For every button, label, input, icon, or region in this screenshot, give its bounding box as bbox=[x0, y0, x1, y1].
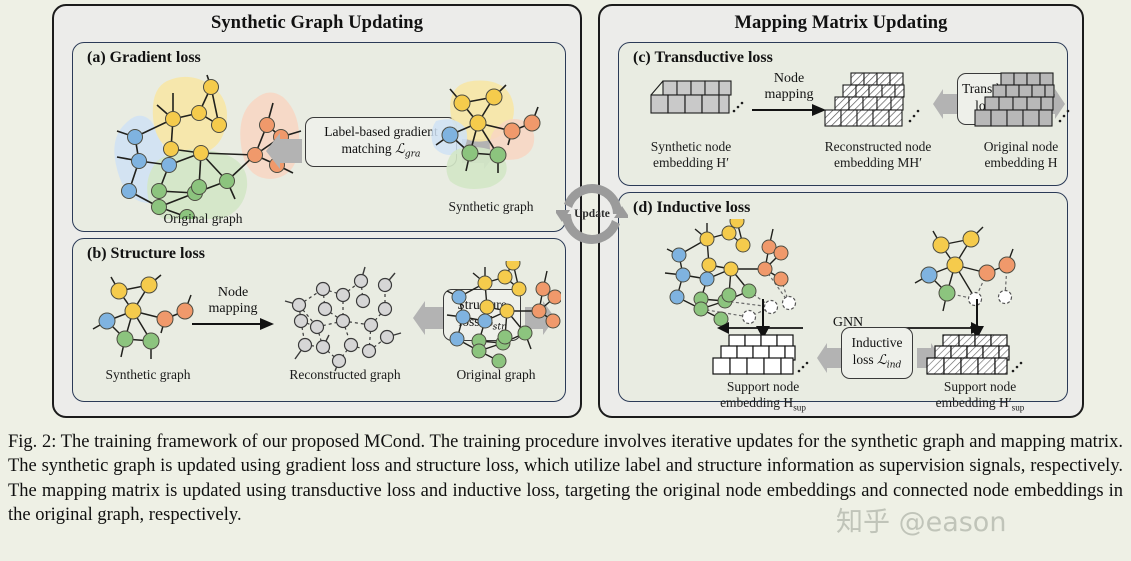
panel-d-right-label-1: Support node bbox=[944, 379, 1016, 394]
inductive-loss-line1: Inductive bbox=[852, 335, 903, 350]
panel-b-title: (b) Structure loss bbox=[87, 245, 205, 263]
outer-panel-synthetic-graph-updating: Synthetic Graph Updating (a) Gradient lo… bbox=[52, 4, 582, 418]
panel-c-left-label-2: embedding H′ bbox=[653, 155, 729, 170]
panel-a-original-graph-label: Original graph bbox=[133, 211, 273, 227]
node-mapping-line2-b: mapping bbox=[209, 301, 258, 316]
panel-c-right-label-1: Original node bbox=[984, 139, 1059, 154]
panel-d-left-label-2: embedding H bbox=[720, 395, 793, 410]
arrow-left-transductive bbox=[931, 89, 959, 119]
ellipsis-dots bbox=[1012, 362, 1023, 373]
panel-b-synthetic-graph-label: Synthetic graph bbox=[83, 367, 213, 383]
embedding-blocks bbox=[651, 81, 731, 113]
embedding-blocks bbox=[975, 73, 1054, 126]
update-badge-label: Update bbox=[556, 178, 628, 250]
figure-caption: Fig. 2: The training framework of our pr… bbox=[8, 430, 1123, 528]
panel-d-left-label-sub: sup bbox=[793, 403, 806, 413]
support-node-embedding-left-stack bbox=[711, 333, 815, 379]
node-mapping-line2-c: mapping bbox=[765, 87, 814, 102]
graph-nodes bbox=[670, 219, 796, 326]
panel-c-reconstructed-embedding-label: Reconstructed node embedding MH′ bbox=[795, 139, 961, 171]
panel-d-inductive-loss: (d) Inductive loss bbox=[618, 192, 1068, 402]
node-mapping-label-b: Node mapping bbox=[191, 285, 275, 317]
panel-c-left-label-1: Synthetic node bbox=[651, 139, 732, 154]
panel-d-left-embedding-label: Support node embedding Hsup bbox=[693, 379, 833, 413]
ellipsis-dots bbox=[733, 102, 744, 113]
graph-nodes bbox=[99, 277, 193, 349]
panel-c-mid-label-2: embedding MH′ bbox=[834, 155, 922, 170]
synthetic-graph-diagram-d bbox=[909, 223, 1019, 319]
inductive-loss-sub: ind bbox=[887, 359, 902, 370]
panel-d-title: (d) Inductive loss bbox=[633, 199, 750, 217]
outer-panel-right-title: Mapping Matrix Updating bbox=[600, 13, 1082, 34]
panel-a-gradient-loss: (a) Gradient loss bbox=[72, 42, 566, 232]
synthetic-graph-diagram-b bbox=[87, 269, 207, 373]
update-badge: Update bbox=[556, 178, 628, 250]
arrow-left-inductive bbox=[815, 343, 843, 373]
panel-c-mid-label-1: Reconstructed node bbox=[825, 139, 932, 154]
panel-c-title: (c) Transductive loss bbox=[633, 49, 773, 67]
arrow-left-structure bbox=[411, 301, 445, 335]
panel-c-synthetic-embedding-label: Synthetic node embedding H′ bbox=[625, 139, 757, 171]
support-node-embedding-right-stack bbox=[925, 333, 1029, 379]
gradient-loss-symbol: ℒ bbox=[395, 141, 405, 157]
ellipsis-dots bbox=[1059, 110, 1070, 123]
panel-b-original-graph-label: Original graph bbox=[431, 367, 561, 383]
panel-d-right-label-2: embedding H′ bbox=[936, 395, 1012, 410]
gradient-loss-sub: gra bbox=[405, 148, 421, 159]
reconstructed-node-embedding-stack bbox=[815, 71, 933, 133]
graph-nodes bbox=[450, 261, 561, 368]
embedding-blocks bbox=[713, 335, 795, 374]
synthetic-node-embedding-stack bbox=[641, 77, 747, 133]
panel-d-right-label-sub: sup bbox=[1012, 403, 1025, 413]
panel-d-right-embedding-label: Support node embedding H′sup bbox=[907, 379, 1053, 413]
inductive-loss-box: Inductive loss ℒind bbox=[841, 327, 913, 379]
original-node-embedding-stack bbox=[965, 71, 1077, 133]
node-mapping-arrow-b bbox=[190, 317, 276, 331]
ellipsis-dots bbox=[909, 110, 920, 123]
original-graph-diagram-d bbox=[659, 219, 849, 329]
panel-a-synthetic-graph-label: Synthetic graph bbox=[421, 199, 561, 215]
reconstructed-graph-diagram-b bbox=[277, 263, 409, 373]
panel-c-transductive-loss: (c) Transductive loss bbox=[618, 42, 1068, 186]
original-graph-diagram-b bbox=[441, 261, 561, 373]
panel-b-reconstructed-graph-label: Reconstructed graph bbox=[263, 367, 427, 383]
ellipsis-dots bbox=[798, 362, 809, 373]
figure-root: Synthetic Graph Updating (a) Gradient lo… bbox=[0, 0, 1131, 561]
embedding-blocks bbox=[825, 73, 904, 126]
gradient-loss-line1: Label-based gradient bbox=[324, 124, 438, 139]
panel-b-structure-loss: (b) Structure loss bbox=[72, 238, 566, 402]
panel-d-left-label-1: Support node bbox=[727, 379, 799, 394]
node-mapping-line1-c: Node bbox=[774, 71, 804, 86]
inductive-loss-line2: loss bbox=[853, 352, 877, 367]
outer-panel-mapping-matrix-updating: Mapping Matrix Updating (c) Transductive… bbox=[598, 4, 1084, 418]
embedding-blocks bbox=[927, 335, 1009, 374]
panel-c-original-embedding-label: Original node embedding H bbox=[957, 139, 1085, 171]
gradient-loss-line2: matching bbox=[341, 141, 395, 156]
node-mapping-line1-b: Node bbox=[218, 285, 248, 300]
synthetic-graph-diagram-a bbox=[428, 79, 556, 197]
panel-c-right-label-2: embedding H bbox=[984, 155, 1057, 170]
arrow-left-gradient bbox=[264, 133, 304, 169]
graph-nodes bbox=[293, 275, 394, 368]
outer-panel-left-title: Synthetic Graph Updating bbox=[54, 13, 580, 34]
panel-a-title: (a) Gradient loss bbox=[87, 49, 201, 67]
inductive-loss-symbol: ℒ bbox=[877, 352, 887, 368]
